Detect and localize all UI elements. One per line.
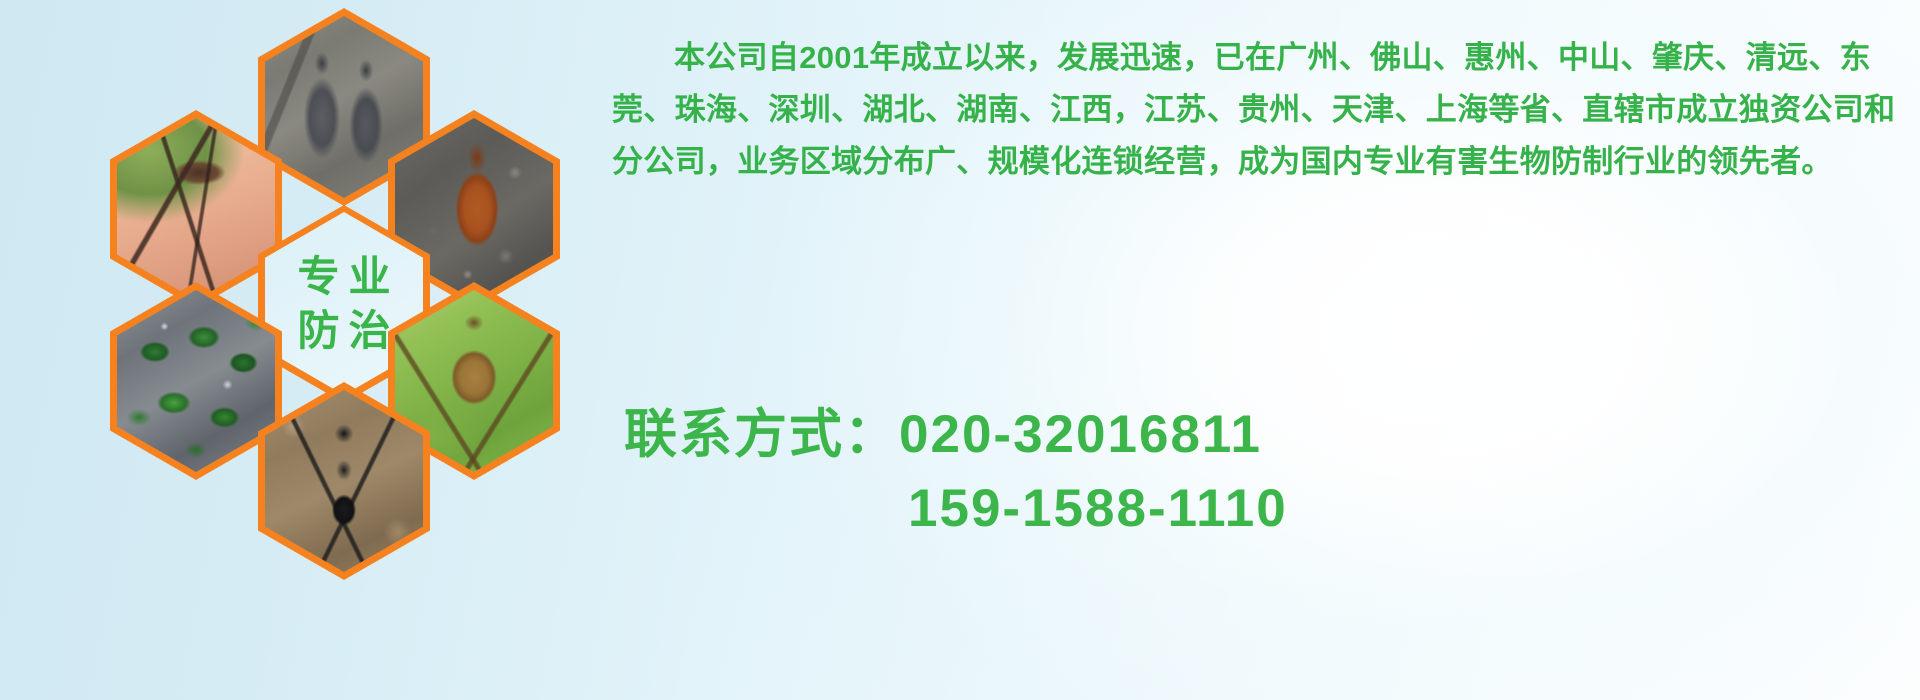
ant-photo — [265, 390, 423, 572]
contact-phone-secondary[interactable]: 159-1588-1110 — [612, 472, 1902, 546]
hex-photo-frame — [117, 290, 275, 472]
hex-photo-frame — [117, 118, 275, 300]
slogan-line-2: 防治 — [288, 307, 399, 354]
hex-cell-mosquito — [110, 110, 282, 308]
honeycomb-image-cluster: 专业 防治 — [0, 0, 620, 700]
contact-block: 联系方式：020-32016811 159-1588-1110 — [612, 398, 1902, 546]
hex-photo-frame — [265, 390, 423, 572]
flies-photo — [117, 290, 275, 472]
company-intro-paragraph: 本公司自2001年成立以来，发展迅速，已在广州、佛山、惠州、中山、肇庆、清远、东… — [612, 32, 1897, 188]
promo-banner: 专业 防治 本公司自2001年成立以来，发展迅速，已在广州、佛山、惠州、中山、肇… — [0, 0, 1920, 700]
contact-phone-primary[interactable]: 联系方式：020-32016811 — [612, 398, 1902, 472]
hex-cell-flies — [110, 282, 282, 480]
slogan-line-1: 专业 — [288, 253, 399, 300]
mosquito-photo — [117, 118, 275, 300]
